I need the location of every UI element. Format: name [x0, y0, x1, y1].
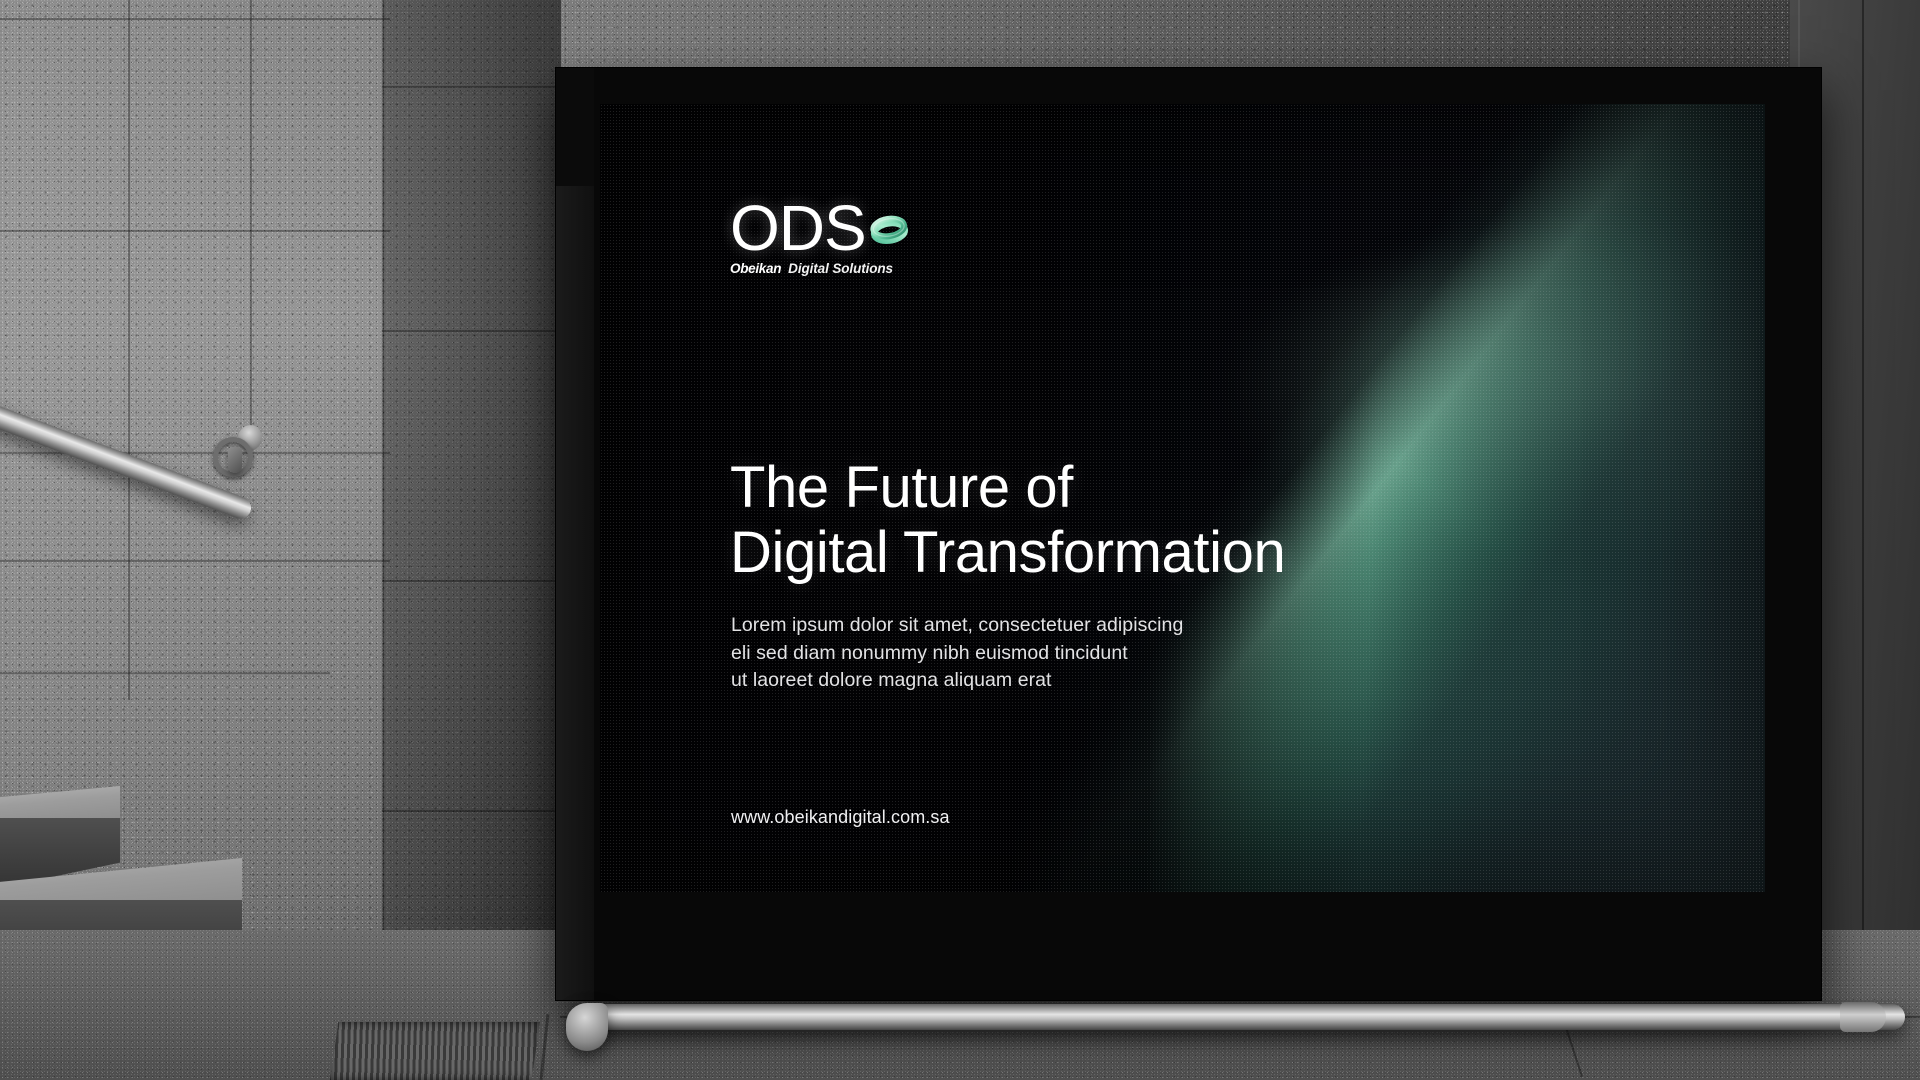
- headline-line-1: The Future of: [730, 455, 1073, 520]
- wall-seam: [0, 560, 390, 562]
- billboard-scene: ODS: [0, 0, 1920, 1080]
- ods-tagline-rest: Digital Solutions: [788, 262, 893, 276]
- ods-tagline: Obeikan Digital Solutions: [730, 262, 911, 276]
- wall-seam: [128, 0, 130, 700]
- billboard[interactable]: ODS: [556, 68, 1821, 1000]
- wall-seam: [0, 452, 390, 454]
- floor-drain-grate: [330, 1022, 540, 1080]
- billboard-frame-reveal-left: [556, 186, 594, 1000]
- wall-seam: [1862, 0, 1864, 1080]
- ods-wordmark: ODS: [730, 200, 866, 258]
- poster-headline: The Future of Digital Transformation: [730, 456, 1285, 586]
- wall-seam: [250, 0, 252, 460]
- handrail-bracket: [228, 447, 242, 473]
- guardrail-end-right: [1840, 1002, 1886, 1032]
- billboard-frame-reveal-top: [556, 68, 594, 186]
- poster-content: ODS: [600, 104, 1765, 892]
- ods-logo: ODS: [730, 200, 911, 275]
- poster-panel: ODS: [600, 104, 1765, 892]
- wall-seam: [0, 230, 390, 232]
- poster-body-copy: Lorem ipsum dolor sit amet, consectetuer…: [731, 612, 1183, 695]
- guardrail-end-curve: [566, 1003, 608, 1051]
- ring-icon: [867, 208, 911, 257]
- wall-seam: [0, 18, 390, 20]
- body-line-2: eli sed diam nonummy nibh euismod tincid…: [731, 640, 1183, 668]
- body-line-1: Lorem ipsum dolor sit amet, consectetuer…: [731, 612, 1183, 640]
- wall-seam: [0, 672, 330, 674]
- granite-pier: [383, 0, 561, 1080]
- bottom-guardrail: [575, 1004, 1905, 1030]
- ods-tagline-brand: Obeikan: [730, 262, 781, 276]
- headline-line-2: Digital Transformation: [730, 521, 1285, 586]
- poster-url[interactable]: www.obeikandigital.com.sa: [731, 807, 950, 828]
- body-line-3: ut laoreet dolore magna aliquam erat: [731, 667, 1183, 695]
